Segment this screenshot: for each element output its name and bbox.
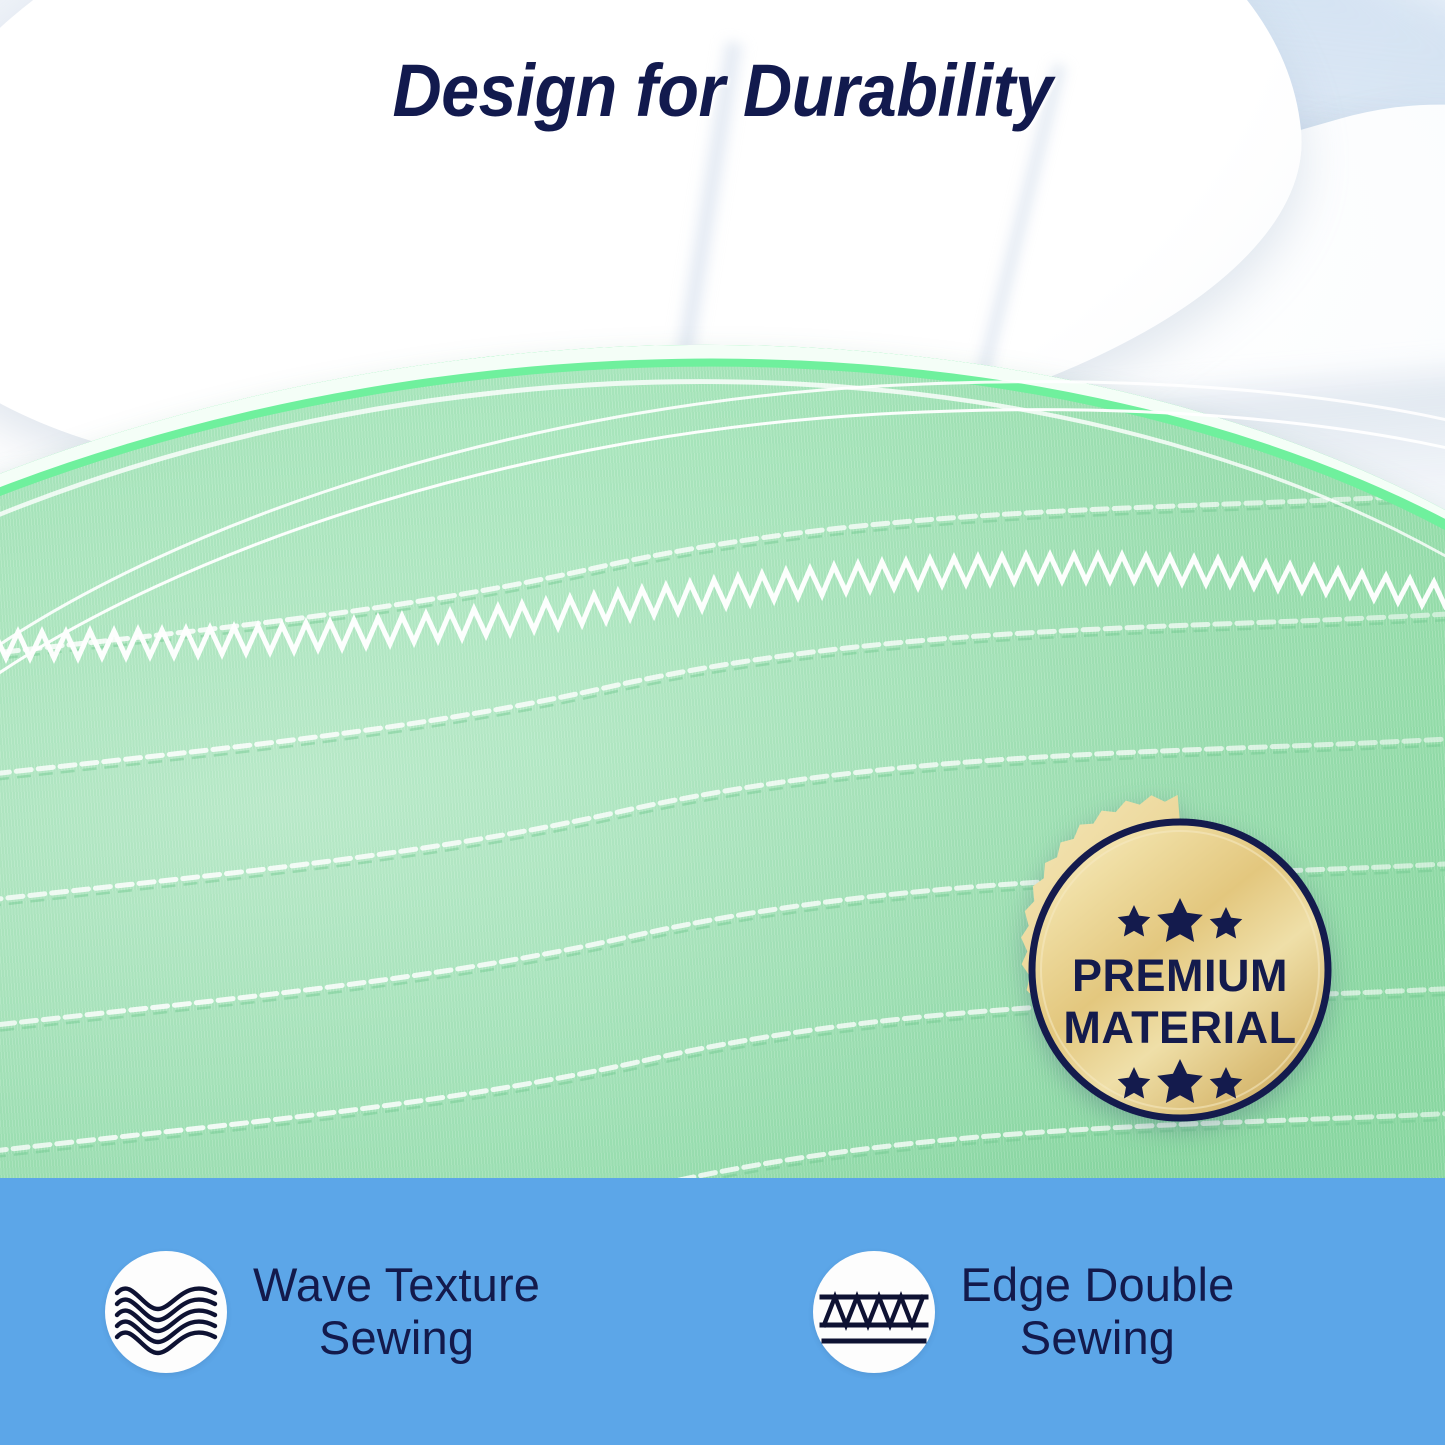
feature-edge-double-label: Edge Double Sewing [961, 1259, 1235, 1364]
page-title: Design for Durability [58, 48, 1387, 133]
feature-list: Wave Texture Sewing Edge Double Sewing [0, 1178, 1445, 1445]
product-marketing-image: PREMIUM MATERIAL Design for Durability [0, 0, 1445, 1445]
wave-texture-icon [105, 1251, 227, 1373]
feature-edge-double: Edge Double Sewing [738, 1178, 1445, 1445]
product-photo: PREMIUM MATERIAL Design for Durability [0, 0, 1445, 1180]
edge-double-stitch-icon [813, 1251, 935, 1373]
feature-band: Wave Texture Sewing Edge Double Sewing [0, 1178, 1445, 1445]
badge-line2: MATERIAL [1063, 1002, 1296, 1053]
wave-lines-glyph [111, 1257, 221, 1367]
feature-wave-texture-label: Wave Texture Sewing [253, 1259, 540, 1364]
badge-line1: PREMIUM [1072, 950, 1288, 1001]
premium-material-badge: PREMIUM MATERIAL [1005, 795, 1355, 1145]
zigzag-stitch-glyph [819, 1257, 929, 1367]
feature-wave-texture: Wave Texture Sewing [0, 1178, 738, 1445]
